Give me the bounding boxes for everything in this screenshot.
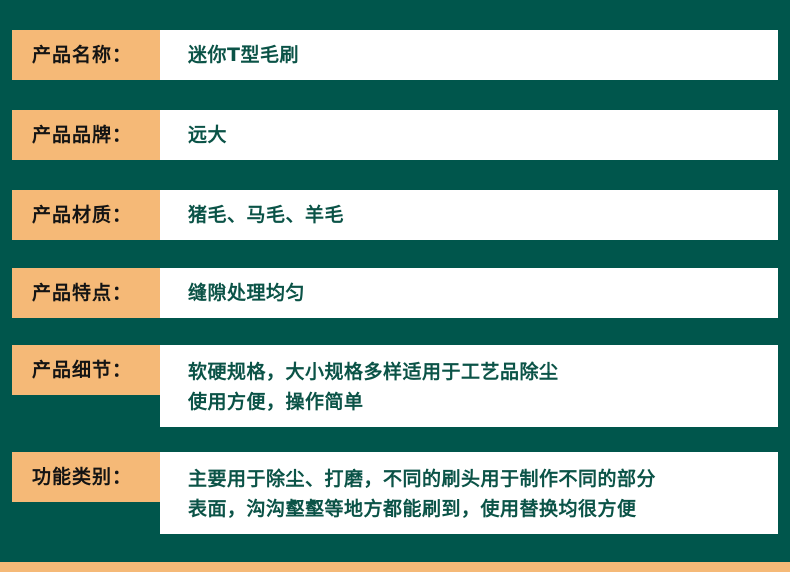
spec-value-line: 表面，沟沟壑壑等地方都能刷到，使用替换均很方便	[188, 494, 778, 524]
spec-row: 产品细节： 软硬规格，大小规格多样适用于工艺品除尘 使用方便，操作简单	[12, 345, 778, 427]
spec-label-product-name: 产品名称：	[12, 30, 160, 80]
spec-value-product-brand: 远大	[160, 110, 778, 160]
product-spec-sheet: 产品名称： 迷你T型毛刷 产品品牌： 远大 产品材质： 猪毛、马毛、羊毛 产品特…	[0, 0, 790, 572]
spec-label-function-category: 功能类别：	[12, 452, 160, 502]
spec-value-line: 猪毛、马毛、羊毛	[188, 200, 778, 230]
spec-row: 产品特点： 缝隙处理均匀	[12, 268, 778, 318]
spec-value-product-feature: 缝隙处理均匀	[160, 268, 778, 318]
spec-value-line: 缝隙处理均匀	[188, 278, 778, 308]
spec-value-line: 使用方便，操作简单	[188, 387, 778, 417]
spec-row: 产品材质： 猪毛、马毛、羊毛	[12, 190, 778, 240]
spec-value-line: 主要用于除尘、打磨，不同的刷头用于制作不同的部分	[188, 464, 778, 494]
spec-label-product-feature: 产品特点：	[12, 268, 160, 318]
spec-row: 产品品牌： 远大	[12, 110, 778, 160]
spec-label-product-material: 产品材质：	[12, 190, 160, 240]
spec-label-product-detail: 产品细节：	[12, 345, 160, 395]
spec-value-line: 软硬规格，大小规格多样适用于工艺品除尘	[188, 357, 778, 387]
spec-value-line: 迷你T型毛刷	[188, 40, 778, 70]
spec-row: 产品名称： 迷你T型毛刷	[12, 30, 778, 80]
spec-label-product-brand: 产品品牌：	[12, 110, 160, 160]
spec-value-line: 远大	[188, 120, 778, 150]
spec-value-product-name: 迷你T型毛刷	[160, 30, 778, 80]
spec-row: 功能类别： 主要用于除尘、打磨，不同的刷头用于制作不同的部分 表面，沟沟壑壑等地…	[12, 452, 778, 534]
bottom-accent-band	[0, 562, 790, 572]
spec-value-product-material: 猪毛、马毛、羊毛	[160, 190, 778, 240]
spec-value-function-category: 主要用于除尘、打磨，不同的刷头用于制作不同的部分 表面，沟沟壑壑等地方都能刷到，…	[160, 452, 778, 534]
spec-value-product-detail: 软硬规格，大小规格多样适用于工艺品除尘 使用方便，操作简单	[160, 345, 778, 427]
